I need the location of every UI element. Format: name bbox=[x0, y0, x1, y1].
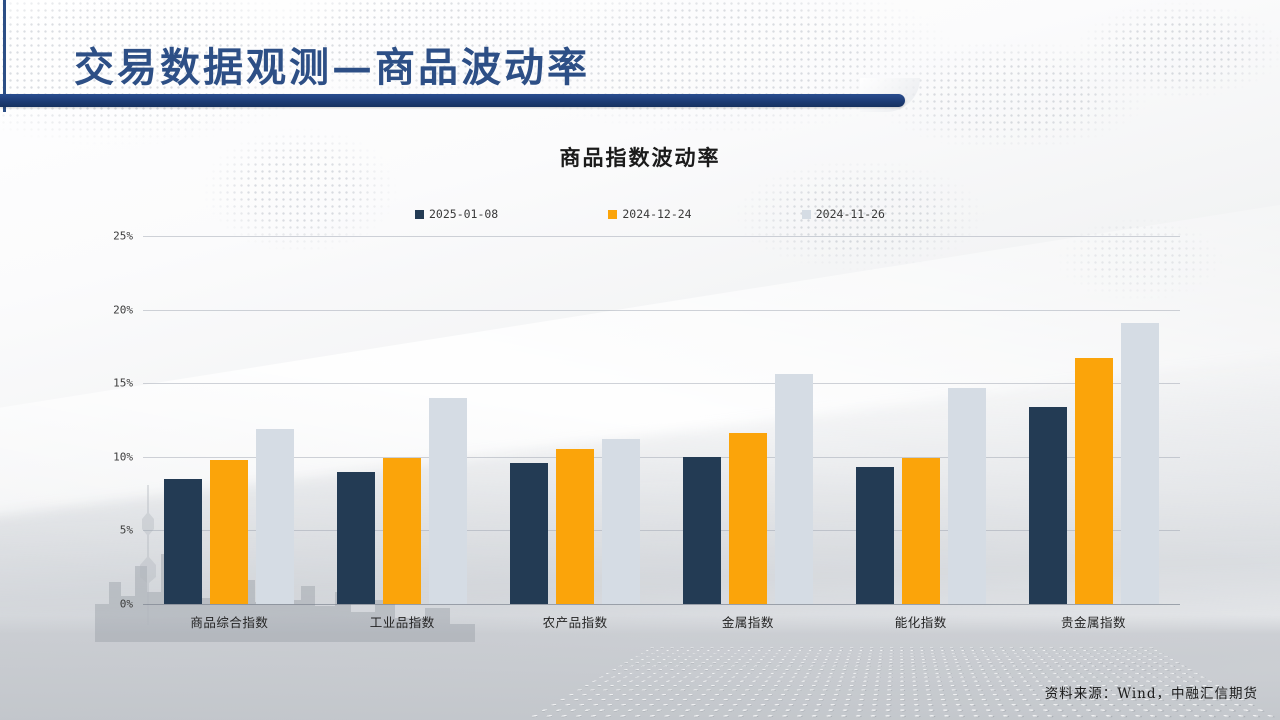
slide-canvas: 交易数据观测—商品波动率 商品指数波动率 2025-01-08 2024-12-… bbox=[0, 0, 1280, 720]
bar-0-0[interactable] bbox=[164, 479, 202, 604]
title-underline-bar bbox=[0, 94, 905, 107]
legend-item-series-1[interactable]: 2024-12-24 bbox=[608, 207, 691, 221]
bar-1-3[interactable] bbox=[729, 433, 767, 604]
y-axis-tick-label: 20% bbox=[73, 303, 133, 316]
bar-0-1[interactable] bbox=[337, 472, 375, 604]
bar-2-0[interactable] bbox=[256, 429, 294, 604]
bar-1-4[interactable] bbox=[902, 458, 940, 604]
bar-2-3[interactable] bbox=[775, 374, 813, 604]
y-axis-tick-label: 25% bbox=[73, 230, 133, 243]
x-axis: 商品综合指数工业品指数农产品指数金属指数能化指数贵金属指数 bbox=[143, 612, 1180, 631]
bar-2-2[interactable] bbox=[602, 439, 640, 604]
bar-1-2[interactable] bbox=[556, 449, 594, 604]
bar-0-3[interactable] bbox=[683, 457, 721, 604]
bar-group bbox=[1007, 236, 1180, 604]
bar-group bbox=[143, 236, 316, 604]
bar-1-5[interactable] bbox=[1075, 358, 1113, 604]
y-axis-tick-label: 0% bbox=[73, 598, 133, 611]
bar-group bbox=[316, 236, 489, 604]
x-axis-category-label: 农产品指数 bbox=[489, 612, 662, 631]
bar-0-5[interactable] bbox=[1029, 407, 1067, 604]
bar-group bbox=[489, 236, 662, 604]
legend-item-series-0[interactable]: 2025-01-08 bbox=[415, 207, 498, 221]
x-axis-category-label: 金属指数 bbox=[661, 612, 834, 631]
gridline-0% bbox=[143, 604, 1180, 605]
y-axis-tick-label: 15% bbox=[73, 377, 133, 390]
x-axis-category-label: 能化指数 bbox=[834, 612, 1007, 631]
legend-swatch-icon-series-0 bbox=[415, 210, 424, 219]
chart-container: 商品指数波动率 2025-01-08 2024-12-24 2024-11-26… bbox=[0, 125, 1280, 645]
chart-title: 商品指数波动率 bbox=[0, 142, 1280, 172]
bar-0-4[interactable] bbox=[856, 467, 894, 604]
bar-1-1[interactable] bbox=[383, 458, 421, 604]
y-axis-tick-label: 5% bbox=[73, 524, 133, 537]
chart-legend: 2025-01-08 2024-12-24 2024-11-26 bbox=[415, 207, 885, 221]
bar-2-5[interactable] bbox=[1121, 323, 1159, 604]
x-axis-category-label: 工业品指数 bbox=[316, 612, 489, 631]
legend-item-series-2[interactable]: 2024-11-26 bbox=[802, 207, 885, 221]
legend-swatch-icon-series-1 bbox=[608, 210, 617, 219]
y-axis-tick-label: 10% bbox=[73, 450, 133, 463]
legend-label-series-0: 2025-01-08 bbox=[429, 207, 498, 221]
x-axis-category-label: 贵金属指数 bbox=[1007, 612, 1180, 631]
bar-series-groups bbox=[143, 236, 1180, 604]
legend-swatch-icon-series-2 bbox=[802, 210, 811, 219]
bar-2-1[interactable] bbox=[429, 398, 467, 604]
bar-group bbox=[834, 236, 1007, 604]
bar-1-0[interactable] bbox=[210, 460, 248, 604]
legend-label-series-1: 2024-12-24 bbox=[622, 207, 691, 221]
legend-label-series-2: 2024-11-26 bbox=[816, 207, 885, 221]
page-title: 交易数据观测—商品波动率 bbox=[74, 35, 590, 93]
bar-group bbox=[661, 236, 834, 604]
source-note: 资料来源：Wind，中融汇信期货 bbox=[1045, 682, 1258, 702]
x-axis-category-label: 商品综合指数 bbox=[143, 612, 316, 631]
bar-0-2[interactable] bbox=[510, 463, 548, 604]
bar-2-4[interactable] bbox=[948, 388, 986, 604]
